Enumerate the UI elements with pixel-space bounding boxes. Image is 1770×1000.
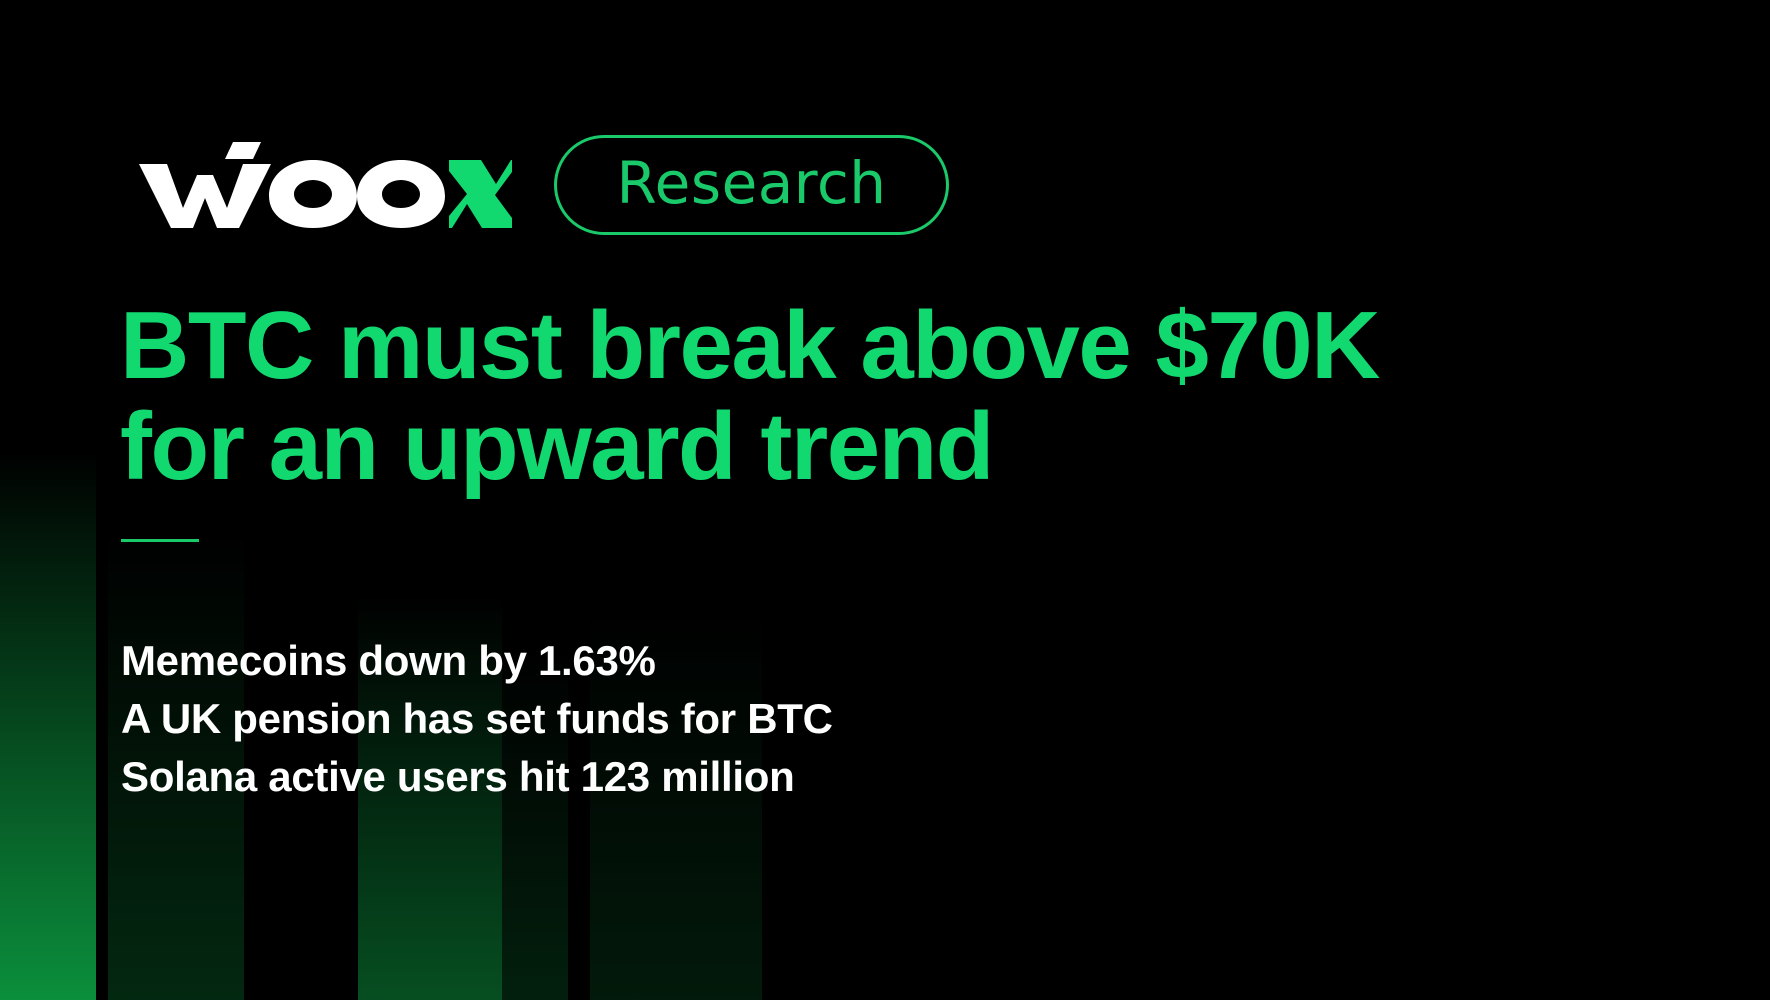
subheadline-list: Memecoins down by 1.63% A UK pension has… [121,632,833,806]
bar-1 [0,452,96,1000]
subheadline-item-1: Memecoins down by 1.63% [121,632,833,690]
woox-wordmark-icon [137,142,512,228]
woox-research-banner: Research BTC must break above $70K for a… [0,0,1770,1000]
subheadline-item-3: Solana active users hit 123 million [121,748,833,806]
divider-rule [121,539,199,542]
research-badge-label: Research [616,154,886,212]
brand-header: Research [137,132,949,238]
research-badge: Research [554,135,949,235]
subheadline-item-2: A UK pension has set funds for BTC [121,690,833,748]
headline-line-1: BTC must break above $70K [120,296,1450,397]
headline-line-2: for an upward trend [120,397,1450,498]
headline: BTC must break above $70K for an upward … [120,296,1450,498]
